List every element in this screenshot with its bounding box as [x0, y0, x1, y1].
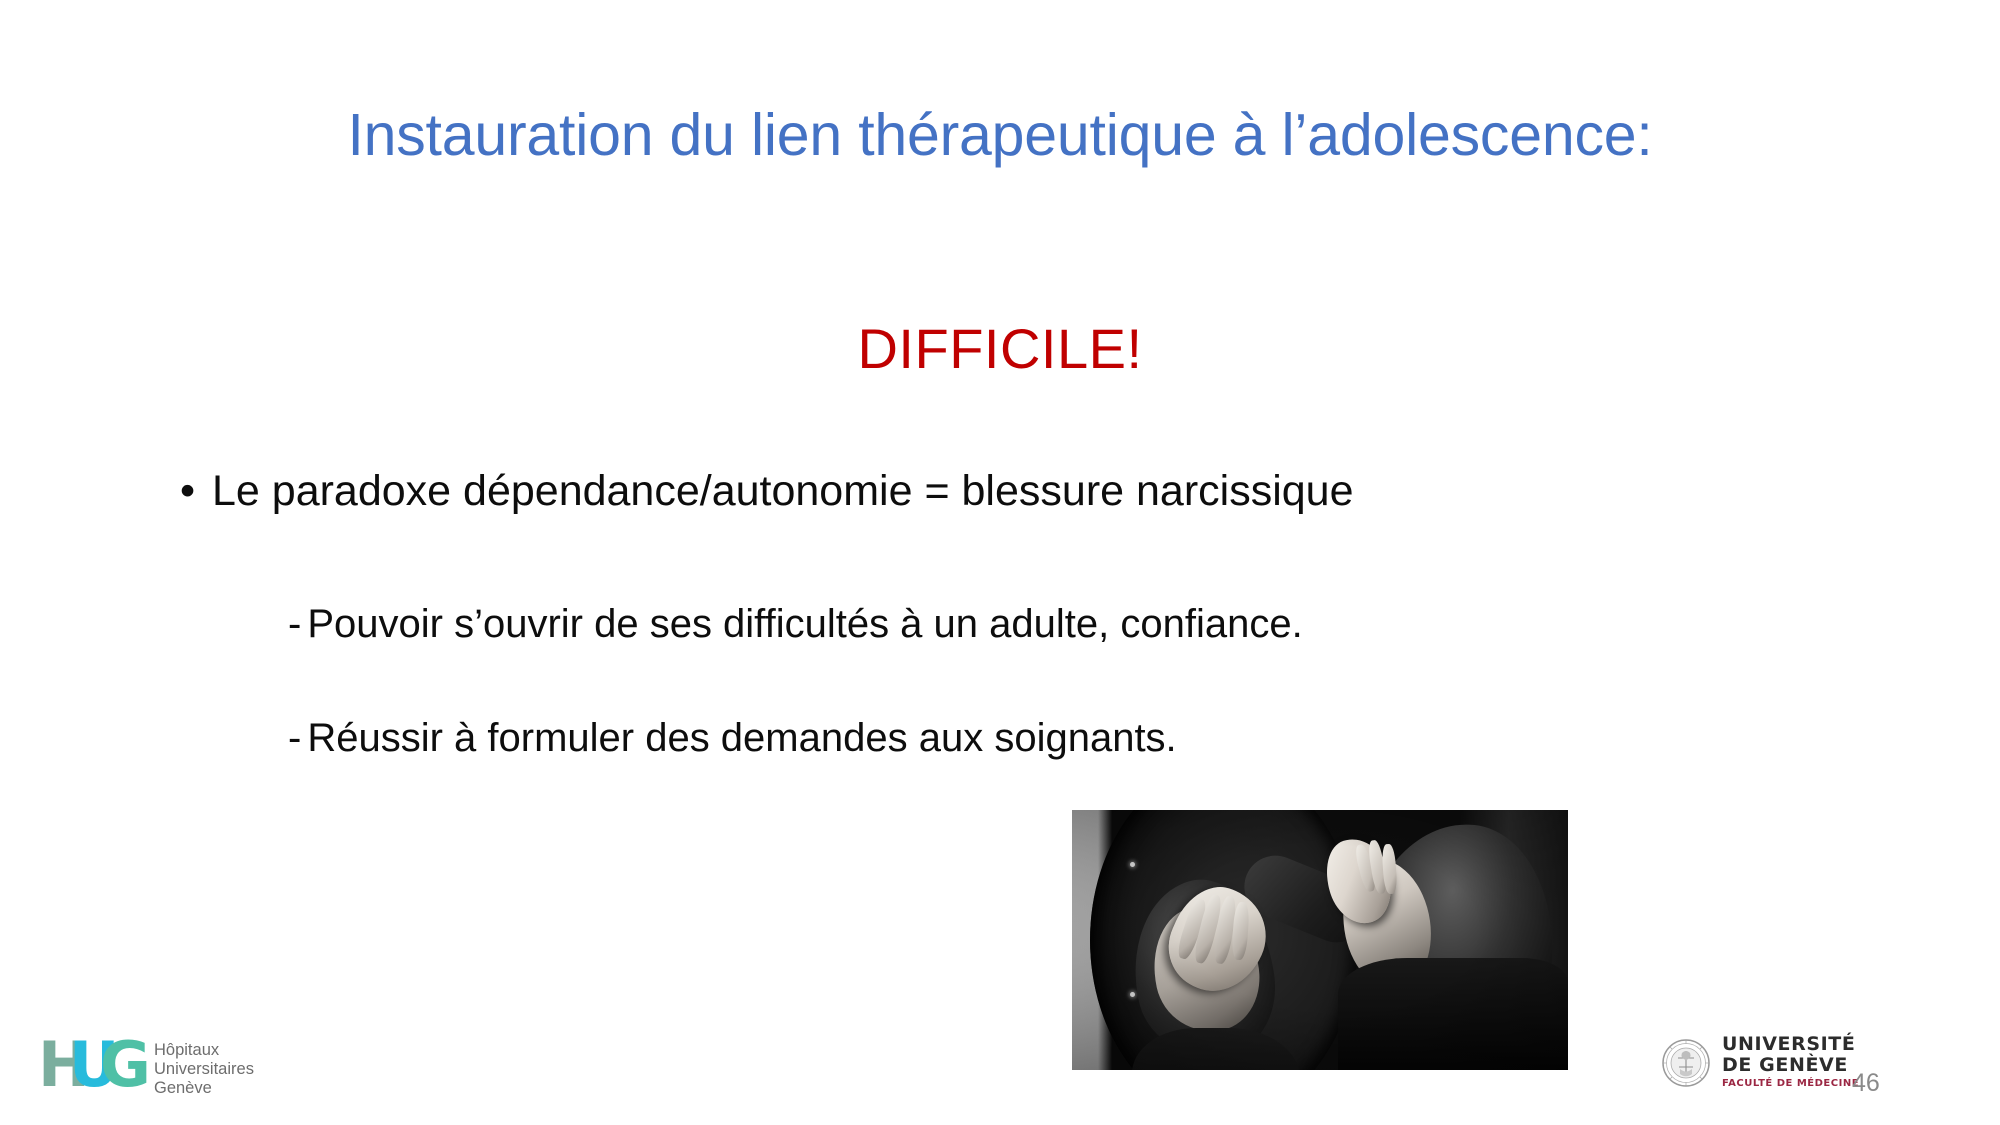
bullet-label-sub-2: Réussir à formuler des demandes aux soig… [307, 716, 1176, 760]
slide-canvas: Instauration du lien thérapeutique à l’a… [0, 0, 2000, 1125]
bullet-item-primary: •Le paradoxe dépendance/autonomie = bles… [212, 466, 1354, 518]
hug-wordmark-icon: H U G [38, 1039, 141, 1091]
hug-logo: H U G Hôpitaux Universitaires Genève [38, 1039, 254, 1098]
page-title: Instauration du lien thérapeutique à l’a… [100, 102, 1900, 170]
subject-torso-shape [1338, 958, 1568, 1070]
slide-photograph [1072, 810, 1568, 1070]
mirror-screw-highlight [1130, 862, 1135, 867]
mirror-screw-highlight [1130, 992, 1135, 997]
unige-logo: UNIVERSITÉ DE GENÈVE FACULTÉ DE MÉDECINE [1661, 1034, 1859, 1091]
bullet-point-icon: • [180, 466, 212, 518]
unige-seal-icon [1661, 1038, 1711, 1088]
hug-logo-wordblock: Hôpitaux Universitaires Genève [154, 1039, 254, 1098]
unige-line-2: DE GENÈVE [1722, 1055, 1859, 1076]
bullet-item-sub-1: -Pouvoir s’ouvrir de ses difficultés à u… [288, 600, 1303, 648]
hug-letter-g: G [100, 1039, 148, 1091]
bullet-label-primary: Le paradoxe dépendance/autonomie = bless… [212, 467, 1354, 515]
hug-logo-line-1: Hôpitaux [154, 1041, 254, 1060]
page-number: 46 [1852, 1068, 1880, 1098]
hug-logo-line-2: Universitaires [154, 1060, 254, 1079]
emphasis-text-difficile: DIFFICILE! [100, 318, 1900, 380]
unige-wordblock: UNIVERSITÉ DE GENÈVE FACULTÉ DE MÉDECINE [1722, 1034, 1859, 1091]
unige-line-1: UNIVERSITÉ [1722, 1034, 1859, 1055]
bullet-item-sub-2: -Réussir à formuler des demandes aux soi… [288, 714, 1177, 762]
dash-bullet-icon: - [288, 600, 301, 648]
unige-faculty-line: FACULTÉ DE MÉDECINE [1722, 1077, 1859, 1091]
dash-bullet-icon: - [288, 714, 301, 762]
bullet-label-sub-1: Pouvoir s’ouvrir de ses difficultés à un… [307, 602, 1302, 646]
hug-logo-line-3: Genève [154, 1079, 254, 1098]
photo-background [1072, 810, 1568, 1070]
